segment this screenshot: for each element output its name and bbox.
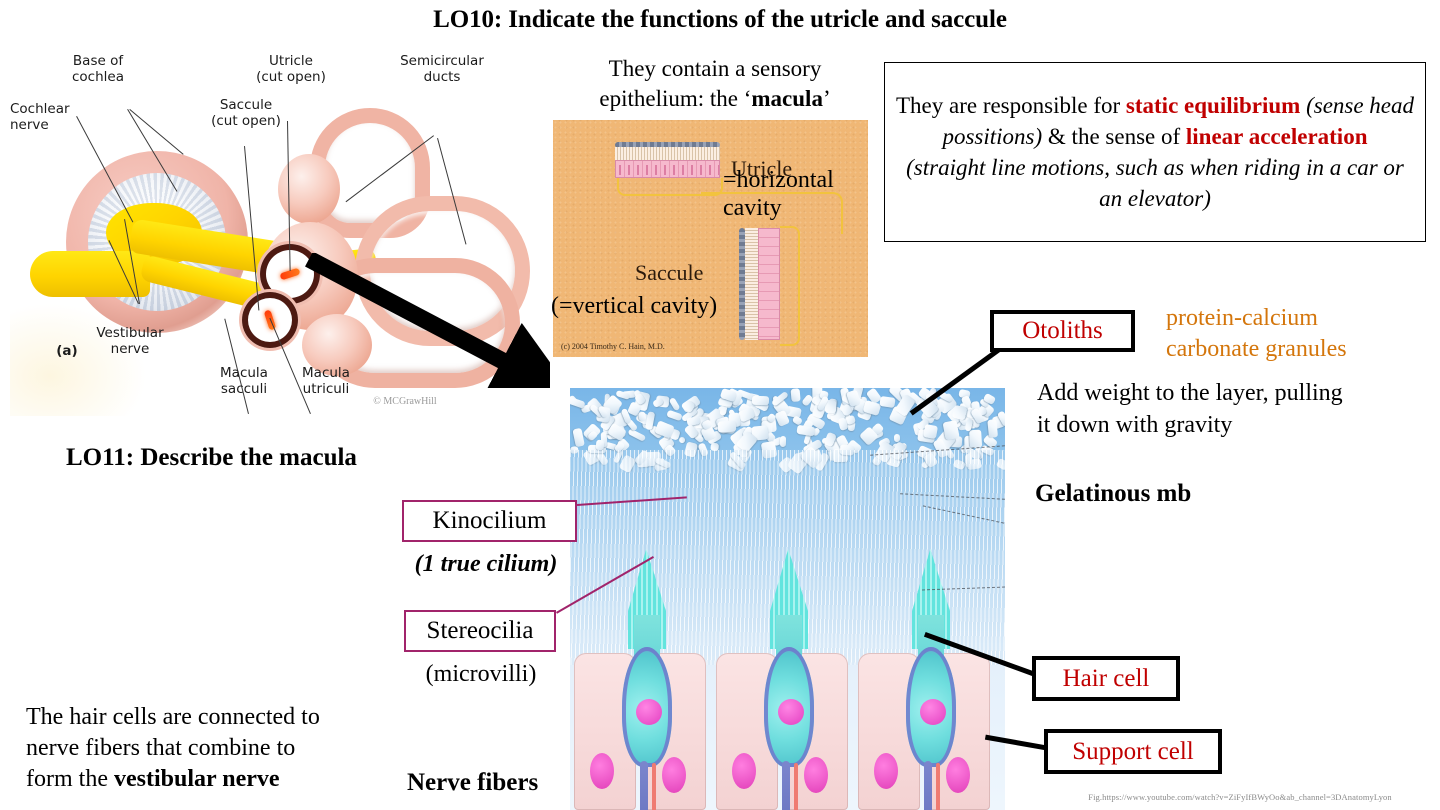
hair-cell-capillary: [936, 763, 940, 810]
label-semicircular-ducts: Semicircular ducts: [392, 54, 492, 85]
otolith-crystal: [879, 396, 895, 408]
hair-cell-nucleus: [778, 699, 804, 725]
otolith-crystal: [751, 396, 768, 406]
label-cochlear-nerve: Cochlear nerve: [10, 102, 82, 133]
kinocilium-label: Kinocilium: [433, 507, 547, 535]
hair-cell: [614, 595, 680, 785]
stereocilia-callout[interactable]: Stereocilia: [404, 610, 556, 652]
equilibrium-linear-acceleration: linear acceleration: [1186, 124, 1368, 149]
otolith-crystal: [942, 419, 959, 439]
saccule-hair-cell-band: [758, 228, 780, 340]
hair-cell: [898, 595, 964, 785]
support-cell-label: Support cell: [1072, 738, 1194, 766]
stereocilia-sub: (microvilli): [396, 659, 566, 689]
otolith-crystal: [969, 430, 982, 448]
hair-cell-nerve-fiber: [782, 761, 790, 810]
vestibular-nerve-bold: vestibular nerve: [114, 766, 280, 792]
hair-cell-capillary: [794, 763, 798, 810]
bottom-paragraph-line2: nerve fibers that combine to: [26, 733, 406, 764]
otolith-crystal: [894, 434, 901, 442]
label-base-of-cochlea: Base of cochlea: [58, 54, 138, 85]
hair-cell-capillary: [652, 763, 656, 810]
label-vestibular-nerve: Vestibular nerve: [88, 326, 172, 357]
saccule-nerve-fibers: [780, 226, 800, 346]
equilibrium-info-box: They are responsible for static equilibr…: [884, 62, 1426, 242]
utricle-overlay-text: =horizontal cavity: [723, 166, 873, 222]
stereocilia-label: Stereocilia: [427, 617, 534, 645]
utricle-epithelium-graphic: [615, 160, 720, 178]
bottom-paragraph: The hair cells are connected to nerve fi…: [26, 702, 406, 795]
hair-cell-nerve-fiber: [924, 761, 932, 810]
otolith-crystal: [573, 428, 585, 447]
otolith-crystal: [718, 420, 737, 432]
equilibrium-text: They are responsible for static equilibr…: [885, 90, 1425, 214]
otolith-crystal: [780, 436, 786, 447]
support-cell-callout[interactable]: Support cell: [1044, 729, 1222, 774]
panel-letter: (a): [52, 344, 82, 360]
hair-cell-callout[interactable]: Hair cell: [1032, 656, 1180, 701]
kinocilium-callout[interactable]: Kinocilium: [402, 500, 577, 542]
macula-caption-line2-post: ’: [823, 86, 831, 111]
saccule-cilia-band: [745, 228, 758, 340]
otolith-crystal: [669, 397, 681, 411]
nerve-fibers-label: Nerve fibers: [407, 768, 538, 798]
hair-cell-nerve-fiber: [640, 761, 648, 810]
hair-cell-nucleus: [920, 699, 946, 725]
otolith-crystal: [792, 415, 803, 425]
label-saccule-cut-open: Saccule (cut open): [200, 98, 292, 129]
label-macula-sacculi: Macula sacculi: [206, 366, 282, 397]
otoliths-note: Add weight to the layer, pulling it down…: [1037, 377, 1437, 441]
hair-cell-nucleus: [636, 699, 662, 725]
bottom-paragraph-line3-pre: form the: [26, 766, 114, 792]
otolith-crystal: [638, 412, 646, 422]
pointer-arrow-icon: [305, 253, 550, 388]
utricle-hair-cell-band: [615, 160, 720, 178]
subtitle-lo11: LO11: Describe the macula: [66, 444, 357, 472]
otolith-crystal: [951, 404, 967, 420]
hair-cell-label: Hair cell: [1063, 665, 1150, 693]
otolith-crystal: [667, 409, 684, 420]
otolith-crystal: [791, 389, 801, 403]
mcgrawhill-copyright: © MCGrawHill: [350, 394, 460, 410]
otolith-crystal: [796, 425, 815, 436]
otolith-crystal: [678, 436, 686, 444]
otoliths-label: Otoliths: [1022, 317, 1103, 345]
otolith-crystal: [596, 440, 605, 451]
equilibrium-seg4: & the sense of: [1042, 124, 1186, 149]
otolith-crystal: [628, 428, 646, 441]
source-credit: Fig.https://www.youtube.com/watch?v=ZiFy…: [1050, 792, 1430, 802]
saccule-overlay-text: (=vertical cavity): [551, 292, 761, 320]
saccule-figure-label: Saccule: [635, 260, 703, 286]
saccule-epithelium-graphic: [758, 228, 780, 340]
equilibrium-seg6: (straight line motions, such as when rid…: [906, 155, 1404, 211]
hain-credit: (c) 2004 Timothy C. Hain, M.D.: [561, 342, 665, 351]
macula-illustration: [570, 388, 1005, 810]
equilibrium-static-equilibrium: static equilibrium: [1126, 93, 1300, 118]
epithelium-cell-row: [570, 653, 1005, 810]
otoliths-callout[interactable]: Otoliths: [990, 310, 1135, 352]
macula-caption-line1: They contain a sensory: [550, 54, 880, 84]
bottom-paragraph-line3: form the vestibular nerve: [26, 764, 406, 795]
equilibrium-seg1: They are responsible for: [896, 93, 1126, 118]
utricle-saccule-figure: Utricle Saccule =horizontal cavity (=ver…: [553, 120, 868, 357]
otoliths-description: protein-calcium carbonate granules: [1166, 303, 1426, 365]
macula-caption-bold: macula: [751, 86, 823, 111]
gelatinous-mb-label: Gelatinous mb: [1035, 479, 1191, 509]
bottom-paragraph-line1: The hair cells are connected to: [26, 702, 406, 733]
macula-caption-line2: epithelium: the ‘macula’: [550, 84, 880, 114]
kinocilium-sub: (1 true cilium): [386, 549, 586, 579]
macula-caption-line2-pre: epithelium: the ‘: [599, 86, 751, 111]
label-utricle-cut-open: Utricle (cut open): [250, 54, 332, 85]
hair-cell: [756, 595, 822, 785]
utricle-cilia-band: [615, 147, 720, 160]
otolith-crystal: [570, 397, 586, 409]
macula-caption: They contain a sensory epithelium: the ‘…: [550, 54, 880, 114]
page-title: LO10: Indicate the functions of the utri…: [0, 6, 1440, 34]
otolith-crystal: [923, 424, 938, 439]
